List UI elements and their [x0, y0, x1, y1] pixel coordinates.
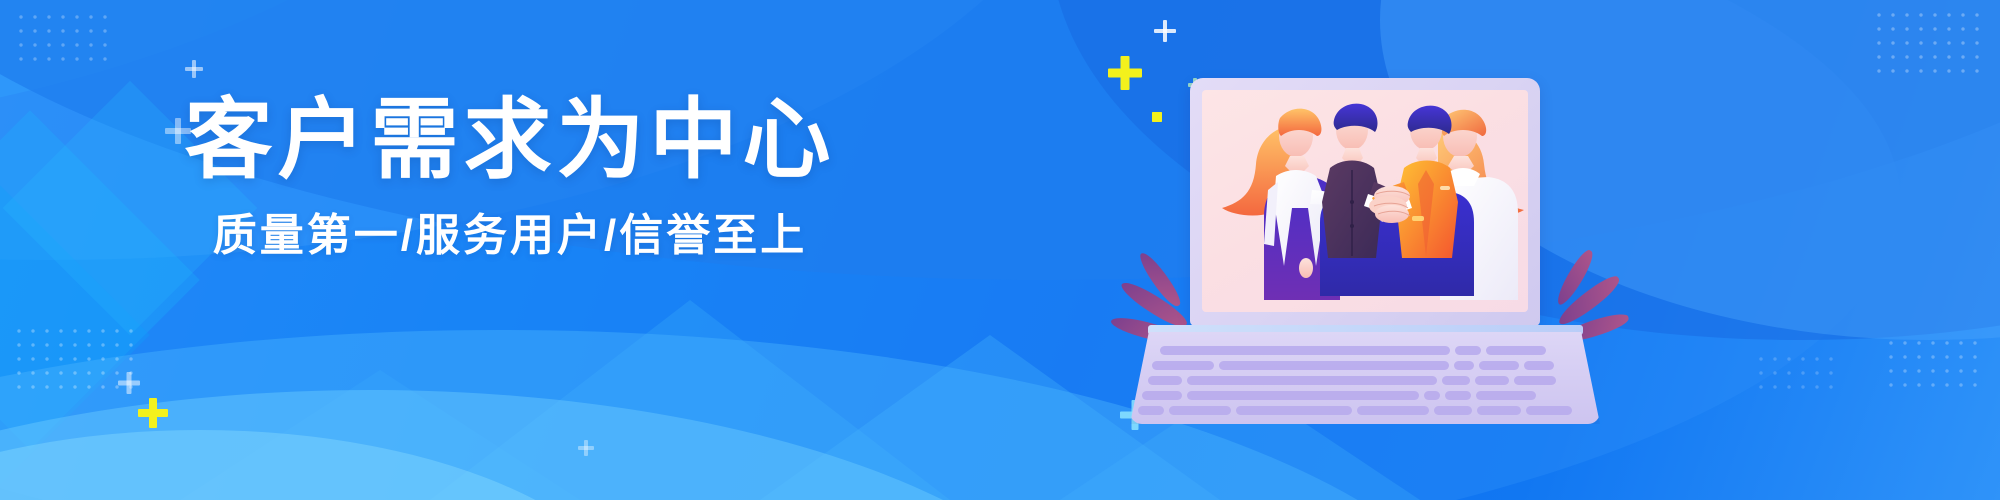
- key: [1514, 376, 1556, 385]
- keyboard-row-1: [1160, 346, 1546, 355]
- plus-sparkle-white-2: [185, 60, 203, 78]
- key: [1138, 406, 1164, 415]
- key: [1479, 361, 1519, 370]
- keyboard-row-2: [1152, 361, 1554, 370]
- dot-grid-top-left: [14, 10, 112, 66]
- key: [1236, 406, 1352, 415]
- dot-grid-top-right: [1872, 8, 1984, 78]
- key: [1187, 391, 1419, 400]
- dot-grid-bottom-mid-right: [1754, 352, 1838, 396]
- dot-grid-bottom-right: [1884, 336, 1984, 394]
- laptop-screen: [1202, 90, 1528, 312]
- key: [1455, 346, 1481, 355]
- key: [1445, 391, 1471, 400]
- plus-sparkle-white-1: [1154, 20, 1176, 42]
- plus-sparkle-yellow-large: [1108, 56, 1142, 90]
- plus-sparkle-white-5: [578, 440, 594, 456]
- key: [1477, 406, 1521, 415]
- key: [1219, 361, 1449, 370]
- keyboard-row-4: [1142, 391, 1536, 400]
- promo-banner: 客户需求为中心 质量第一/服务用户/信誉至上: [0, 0, 2000, 500]
- laptop-lid: [1190, 78, 1540, 326]
- key: [1187, 376, 1437, 385]
- laptop-teamwork-illustration: [1148, 60, 1618, 460]
- banner-headline: 客户需求为中心: [0, 96, 1020, 184]
- key: [1526, 406, 1572, 415]
- banner-subtitle: 质量第一/服务用户/信誉至上: [0, 212, 1020, 260]
- key: [1148, 376, 1182, 385]
- key: [1424, 391, 1440, 400]
- teamwork-scene-svg: [1202, 90, 1528, 312]
- keyboard-row-5: [1138, 406, 1572, 415]
- banner-text-block: 客户需求为中心 质量第一/服务用户/信誉至上: [0, 96, 1020, 260]
- key: [1524, 361, 1554, 370]
- plus-sparkle-white-4: [118, 372, 140, 394]
- keyboard-row-3: [1148, 376, 1556, 385]
- key: [1142, 391, 1182, 400]
- key: [1476, 391, 1536, 400]
- key: [1169, 406, 1231, 415]
- key: [1475, 376, 1509, 385]
- key: [1442, 376, 1470, 385]
- key: [1486, 346, 1546, 355]
- key: [1160, 346, 1450, 355]
- plus-sparkle-yellow-small: [138, 398, 168, 428]
- key: [1152, 361, 1214, 370]
- key: [1454, 361, 1474, 370]
- key: [1434, 406, 1472, 415]
- key: [1357, 406, 1429, 415]
- laptop-base-keyboard: [1130, 332, 1600, 424]
